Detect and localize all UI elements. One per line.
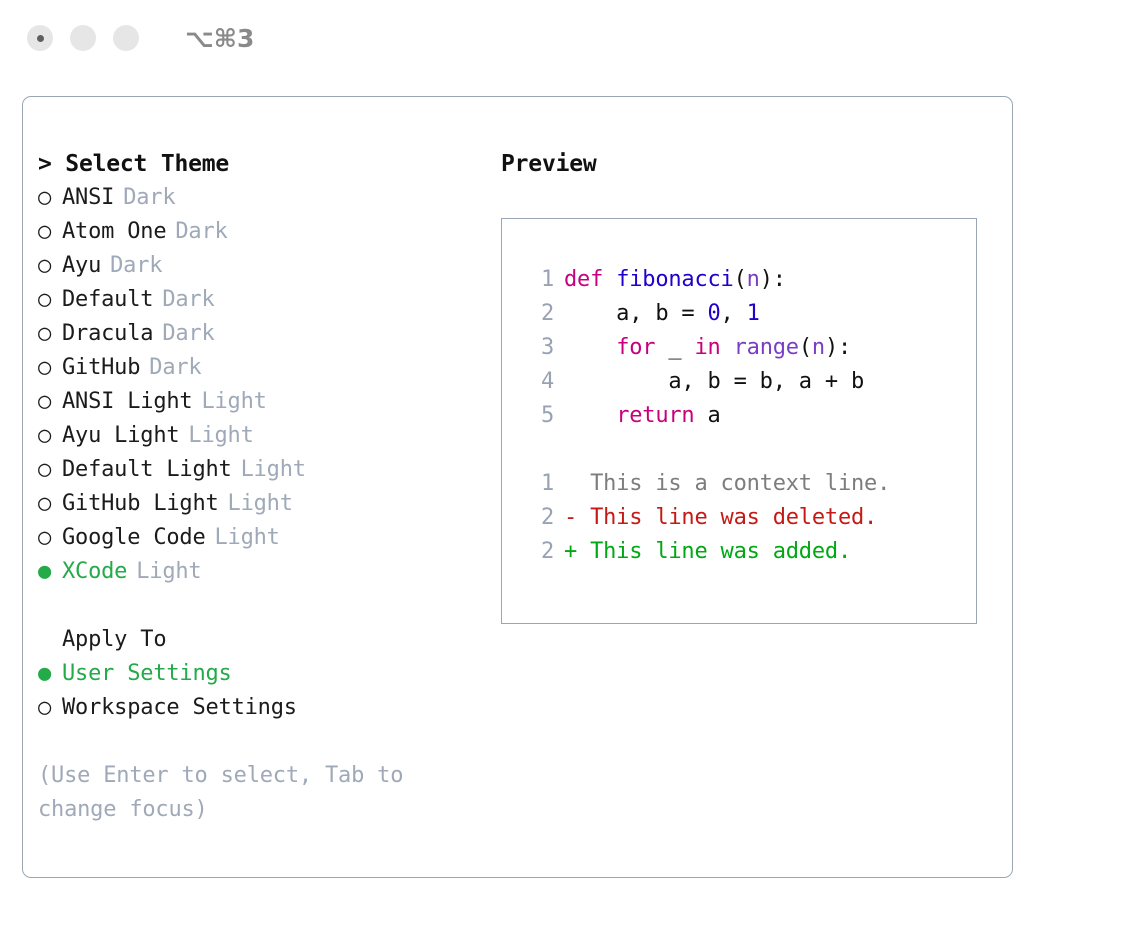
radio-unselected-icon: ○: [38, 453, 62, 487]
code-token-var: range: [734, 335, 799, 360]
code-token-plain: a: [694, 403, 720, 428]
theme-option-xcode[interactable]: ●XCodeLight: [38, 555, 478, 589]
diff-line-number: 2: [524, 535, 554, 569]
apply-to-heading: Apply To: [38, 623, 478, 657]
theme-option-dracula[interactable]: ○DraculaDark: [38, 317, 478, 351]
window-controls: [27, 25, 139, 51]
theme-option-github-light[interactable]: ○GitHub LightLight: [38, 487, 478, 521]
window-dot-3[interactable]: [113, 25, 139, 51]
theme-option-label: ANSI Light: [62, 385, 192, 419]
section-spacer: [38, 589, 478, 623]
theme-variant-tag: Light: [241, 453, 306, 487]
theme-option-ayu-light[interactable]: ○Ayu LightLight: [38, 419, 478, 453]
apply-to-option-workspace-settings[interactable]: ○Workspace Settings: [38, 691, 478, 725]
code-token-plain: ,: [721, 301, 747, 326]
code-diff-gap: [524, 433, 976, 467]
theme-variant-tag: Light: [201, 385, 266, 419]
code-line: 1def fibonacci(n):: [524, 263, 976, 297]
diff-line-content: This is a context line.: [564, 467, 890, 501]
radio-selected-icon: ●: [38, 555, 62, 589]
theme-variant-tag: Dark: [175, 215, 227, 249]
code-line-number: 1: [524, 263, 554, 297]
diff-line-add: 2+ This line was added.: [524, 535, 976, 569]
radio-unselected-icon: ○: [38, 215, 62, 249]
theme-variant-tag: Light: [188, 419, 253, 453]
diff-sample: 1 This is a context line.2- This line wa…: [524, 467, 976, 569]
code-line-number: 3: [524, 331, 554, 365]
theme-option-ansi-light[interactable]: ○ANSI LightLight: [38, 385, 478, 419]
code-line: 4 a, b = b, a + b: [524, 365, 976, 399]
diff-line-ctx: 1 This is a context line.: [524, 467, 976, 501]
code-token-num: 0: [708, 301, 721, 326]
diff-line-number: 2: [524, 501, 554, 535]
preview-heading: Preview: [501, 147, 1001, 181]
theme-option-label: Dracula: [62, 317, 153, 351]
theme-option-label: Ayu: [62, 249, 101, 283]
theme-option-label: Google Code: [62, 521, 206, 555]
code-token-kw: def: [564, 267, 616, 292]
theme-option-default-light[interactable]: ○Default LightLight: [38, 453, 478, 487]
code-token-var: n: [812, 335, 825, 360]
diff-line-number: 1: [524, 467, 554, 501]
theme-variant-tag: Light: [228, 487, 293, 521]
theme-option-label: Atom One: [62, 215, 166, 249]
theme-option-label: ANSI: [62, 181, 114, 215]
apply-to-option-label: User Settings: [62, 657, 232, 691]
code-line-content: def fibonacci(n):: [564, 263, 786, 297]
code-sample: 1def fibonacci(n):2 a, b = 0, 13 for _ i…: [524, 263, 976, 433]
theme-variant-tag: Dark: [110, 249, 162, 283]
code-token-fn: fibonacci: [616, 267, 733, 292]
window-dot-active[interactable]: [27, 25, 53, 51]
code-line-number: 4: [524, 365, 554, 399]
radio-unselected-icon: ○: [38, 691, 62, 725]
theme-option-label: Ayu Light: [62, 419, 179, 453]
radio-unselected-icon: ○: [38, 249, 62, 283]
code-line-content: return a: [564, 399, 721, 433]
code-token-kw: return: [616, 403, 694, 428]
theme-selector-column: > Select Theme ○ANSIDark○Atom OneDark○Ay…: [38, 147, 478, 827]
code-token-plain: ):: [760, 267, 786, 292]
code-token-plain: a, b =: [564, 301, 708, 326]
code-line-content: a, b = 0, 1: [564, 297, 760, 331]
window-dot-2[interactable]: [70, 25, 96, 51]
apply-to-option-label: Workspace Settings: [62, 691, 297, 725]
code-token-plain: (: [799, 335, 812, 360]
theme-variant-tag: Dark: [123, 181, 175, 215]
code-line: 5 return a: [524, 399, 976, 433]
theme-option-label: XCode: [62, 555, 127, 589]
apply-to-option-user-settings[interactable]: ●User Settings: [38, 657, 478, 691]
keyboard-hint-text: (Use Enter to select, Tab to change focu…: [38, 759, 438, 827]
apply-to-list: ●User Settings○Workspace Settings: [38, 657, 478, 725]
app-window: ⌥⌘3 > Select Theme ○ANSIDark○Atom OneDar…: [0, 0, 1140, 934]
diff-line-content: - This line was deleted.: [564, 501, 877, 535]
active-dot-indicator: [37, 35, 44, 42]
theme-variant-tag: Light: [215, 521, 280, 555]
radio-selected-icon: ●: [38, 657, 62, 691]
theme-variant-tag: Dark: [162, 317, 214, 351]
diff-line-del: 2- This line was deleted.: [524, 501, 976, 535]
code-token-kw: for: [616, 335, 655, 360]
theme-option-atom-one[interactable]: ○Atom OneDark: [38, 215, 478, 249]
radio-unselected-icon: ○: [38, 181, 62, 215]
theme-option-label: GitHub: [62, 351, 140, 385]
window-titlebar: ⌥⌘3: [0, 0, 1140, 76]
radio-unselected-icon: ○: [38, 351, 62, 385]
theme-option-github[interactable]: ○GitHubDark: [38, 351, 478, 385]
radio-unselected-icon: ○: [38, 487, 62, 521]
theme-option-google-code[interactable]: ○Google CodeLight: [38, 521, 478, 555]
radio-unselected-icon: ○: [38, 419, 62, 453]
main-panel: > Select Theme ○ANSIDark○Atom OneDark○Ay…: [22, 96, 1013, 878]
theme-option-default[interactable]: ○DefaultDark: [38, 283, 478, 317]
code-token-plain: [564, 403, 616, 428]
theme-option-label: GitHub Light: [62, 487, 219, 521]
theme-list: ○ANSIDark○Atom OneDark○AyuDark○DefaultDa…: [38, 181, 478, 589]
radio-unselected-icon: ○: [38, 385, 62, 419]
select-theme-heading: > Select Theme: [38, 147, 478, 181]
code-line-content: a, b = b, a + b: [564, 365, 864, 399]
diff-line-content: + This line was added.: [564, 535, 851, 569]
theme-option-label: Default: [62, 283, 153, 317]
code-token-plain: _: [655, 335, 694, 360]
code-line: 3 for _ in range(n):: [524, 331, 976, 365]
code-token-plain: a, b = b, a + b: [564, 369, 864, 394]
preview-box: 1def fibonacci(n):2 a, b = 0, 13 for _ i…: [501, 218, 977, 624]
code-token-plain: (: [734, 267, 747, 292]
code-token-kw: in: [694, 335, 720, 360]
radio-unselected-icon: ○: [38, 317, 62, 351]
theme-option-label: Default Light: [62, 453, 232, 487]
code-token-plain: [721, 335, 734, 360]
theme-variant-tag: Light: [136, 555, 201, 589]
code-token-var: n: [747, 267, 760, 292]
theme-option-ayu[interactable]: ○AyuDark: [38, 249, 478, 283]
code-token-plain: ):: [825, 335, 851, 360]
keyboard-shortcut-label: ⌥⌘3: [185, 24, 254, 53]
code-line-number: 5: [524, 399, 554, 433]
code-token-plain: [564, 335, 616, 360]
radio-unselected-icon: ○: [38, 283, 62, 317]
code-line-number: 2: [524, 297, 554, 331]
theme-variant-tag: Dark: [149, 351, 201, 385]
code-line: 2 a, b = 0, 1: [524, 297, 976, 331]
theme-variant-tag: Dark: [162, 283, 214, 317]
radio-unselected-icon: ○: [38, 521, 62, 555]
preview-column: Preview 1def fibonacci(n):2 a, b = 0, 13…: [501, 147, 1001, 624]
code-token-num: 1: [747, 301, 760, 326]
code-line-content: for _ in range(n):: [564, 331, 851, 365]
theme-option-ansi[interactable]: ○ANSIDark: [38, 181, 478, 215]
